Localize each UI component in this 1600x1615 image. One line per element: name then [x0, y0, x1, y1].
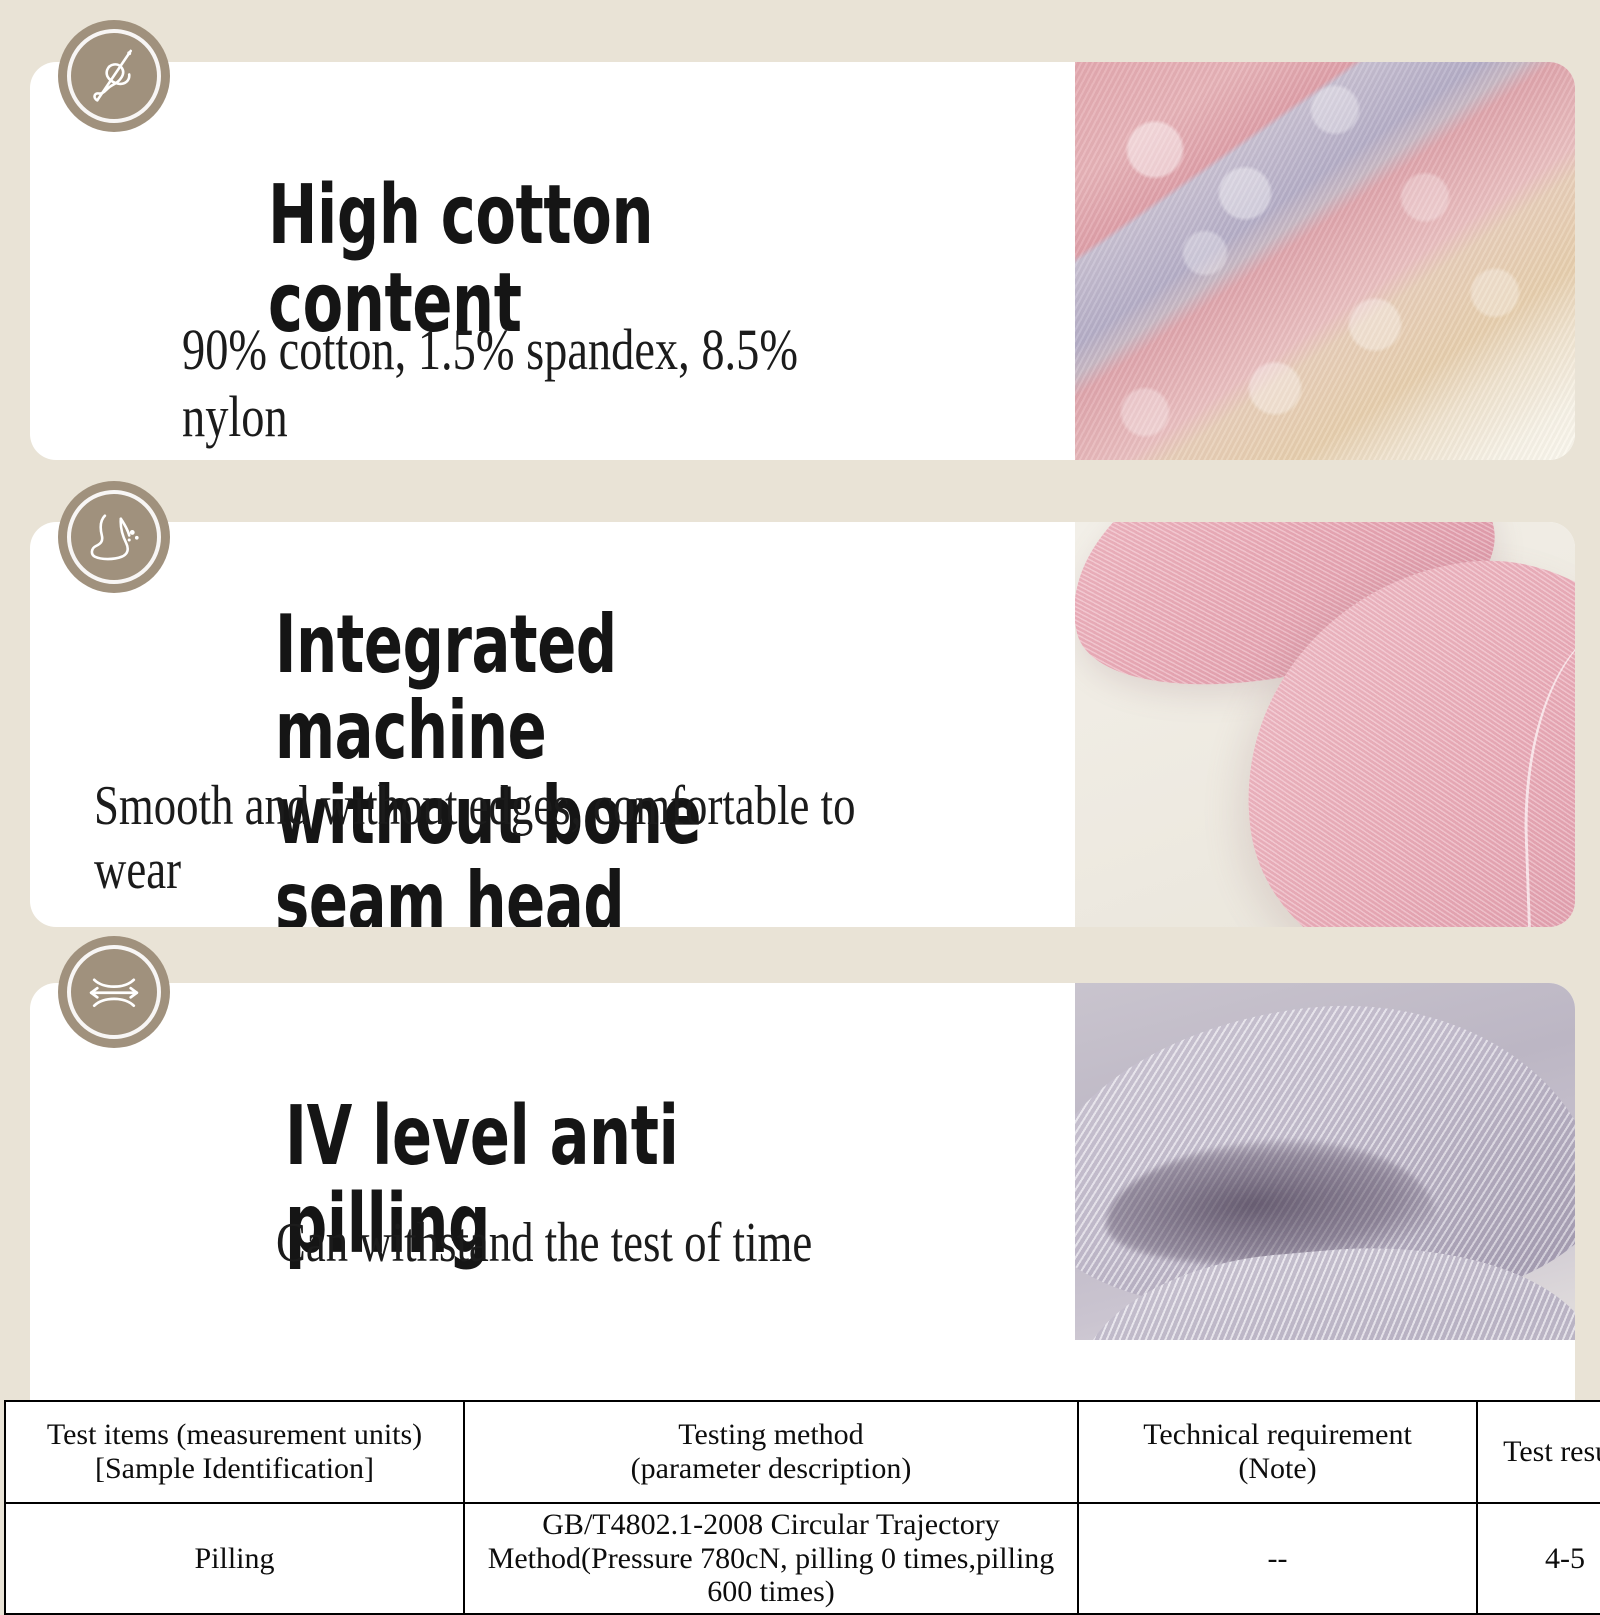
feature-card-seamless-toe: Integrated machine without bone seam hea… [30, 522, 1575, 927]
card-bottom-strip [30, 1340, 1575, 1402]
table-header-row: Test items (measurement units) [Sample I… [5, 1401, 1600, 1503]
feature-card-text-block: IV level anti pilling Can withstand the … [30, 983, 1075, 1400]
cell-testing-method: GB/T4802.1-2008 Circular Trajectory Meth… [464, 1503, 1078, 1614]
cell-test-item: Pilling [5, 1503, 464, 1614]
needle-thread-icon [58, 20, 170, 132]
product-feature-infographic: High cotton content 90% cotton, 1.5% spa… [0, 0, 1600, 1600]
pink-sock-toe-photo [1075, 522, 1575, 927]
seam-line [1517, 616, 1575, 927]
table-header-testing-method: Testing method (parameter description) [464, 1401, 1078, 1503]
table-header-technical-requirement: Technical requirement (Note) [1078, 1401, 1477, 1503]
table-row: Pilling GB/T4802.1-2008 Circular Traject… [5, 1503, 1600, 1614]
feature-card-anti-pilling: IV level anti pilling Can withstand the … [30, 983, 1575, 1400]
table-header-test-result: Test result [1477, 1401, 1600, 1503]
feature-card-text-block: Integrated machine without bone seam hea… [30, 522, 1075, 927]
cell-test-result: 4-5 [1477, 1503, 1600, 1614]
feature-subline: Smooth and without edges, comfortable to… [94, 774, 879, 903]
feature-card-cotton-content: High cotton content 90% cotton, 1.5% spa… [30, 62, 1575, 460]
anti-pilling-stretch-icon [58, 936, 170, 1048]
cell-technical-requirement: -- [1078, 1503, 1477, 1614]
feature-subline: 90% cotton, 1.5% spandex, 8.5% nylon [182, 317, 896, 450]
photo-texture [1075, 62, 1575, 460]
photo-texture [1075, 522, 1575, 927]
lavender-knit-cuff-photo [1075, 983, 1575, 1400]
pilling-test-table: Test items (measurement units) [Sample I… [4, 1400, 1600, 1615]
table-header-test-items: Test items (measurement units) [Sample I… [5, 1401, 464, 1503]
feature-card-text-block: High cotton content 90% cotton, 1.5% spa… [30, 62, 1075, 460]
feature-subline: Can withstand the test of time [276, 1211, 812, 1275]
foot-comfort-icon [58, 481, 170, 593]
photo-texture [1075, 983, 1575, 1400]
knit-socks-stack-photo [1075, 62, 1575, 460]
